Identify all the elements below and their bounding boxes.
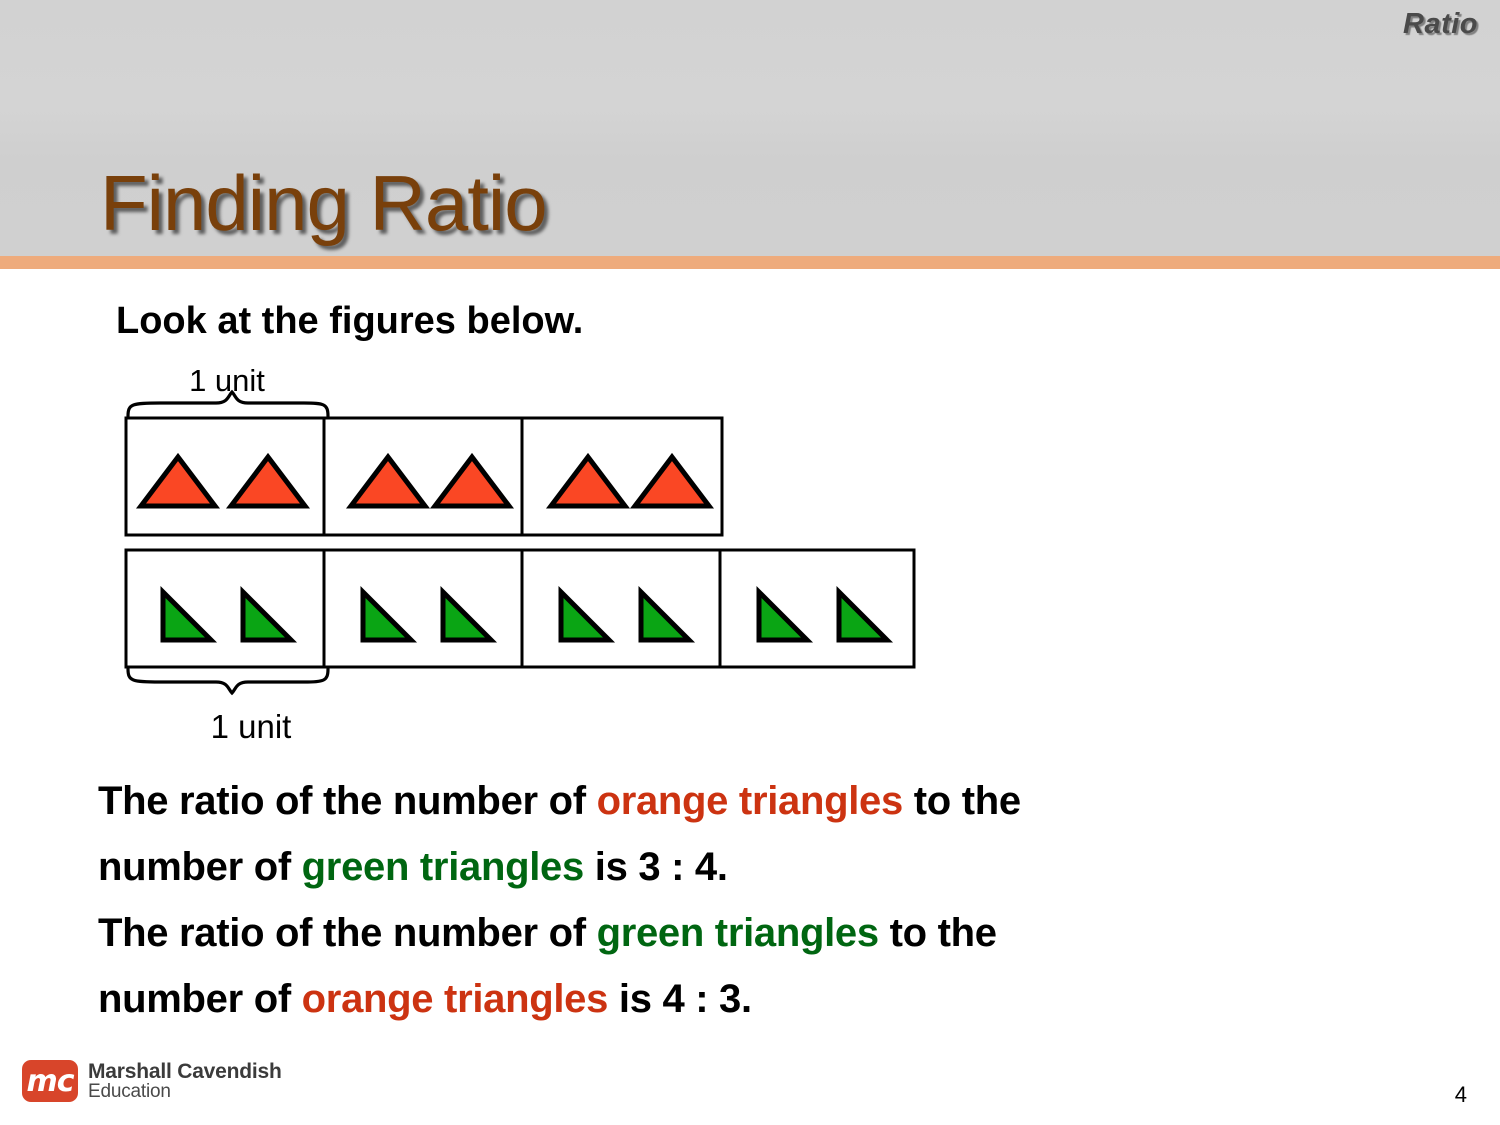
keyword-orange-triangles: orange triangles [597,779,903,823]
statement-1-text-b: to the [903,779,1021,823]
mc-logo-icon: mc [22,1060,78,1102]
title-divider [0,256,1500,269]
statement-line-1: The ratio of the number of orange triang… [98,768,1418,834]
statement-4-text-b: is 4 : 3. [608,977,752,1021]
bottom-unit-brace [128,669,328,693]
orange-unit-row [126,418,722,535]
header-kicker: Ratio [1403,8,1478,41]
logo-name: Marshall Cavendish [88,1061,282,1082]
page-number: 4 [1455,1082,1467,1108]
statement-4-text-a: number of [98,977,302,1021]
lead-instruction: Look at the figures below. [116,300,583,343]
statement-3-text-a: The ratio of the number of [98,911,597,955]
statement-3-text-b: to the [879,911,997,955]
statement-line-3: The ratio of the number of green triangl… [98,900,1418,966]
green-unit-row [126,550,914,667]
keyword-green-triangles: green triangles [302,845,584,889]
keyword-green-triangles-2: green triangles [597,911,879,955]
publisher-logo: mc Marshall Cavendish Education [22,1060,282,1102]
statement-line-4: number of orange triangles is 4 : 3. [98,966,1418,1032]
statement-2-text-b: is 3 : 4. [584,845,728,889]
statement-line-2: number of green triangles is 3 : 4. [98,834,1418,900]
keyword-orange-triangles-2: orange triangles [302,977,608,1021]
bottom-unit-label: 1 unit [126,708,376,746]
logo-wordmark: Marshall Cavendish Education [88,1061,282,1102]
top-unit-label: 1 unit [126,363,328,399]
statement-2-text-a: number of [98,845,302,889]
statement-block: The ratio of the number of orange triang… [98,768,1418,1032]
page-title: Finding Ratio [100,158,547,249]
statement-1-text-a: The ratio of the number of [98,779,597,823]
logo-subtitle: Education [88,1082,282,1101]
